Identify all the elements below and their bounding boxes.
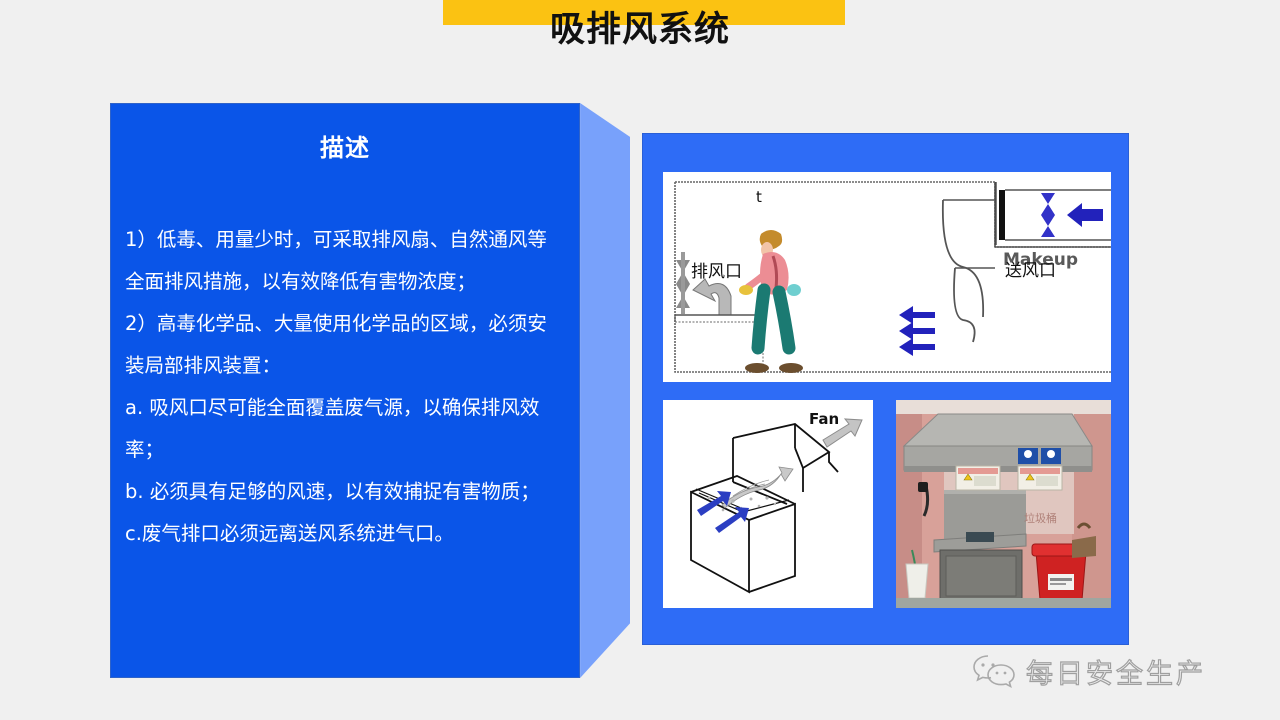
description-body: 1）低毒、用量少时，可采取排风扇、自然通风等全面排风措施，以有效降低有害物浓度；…	[125, 219, 565, 555]
description-paragraph-2: 2）高毒化学品、大量使用化学品的区域，必须安装局部排风装置：	[125, 303, 565, 387]
supply-vent-label: 送风口	[1005, 261, 1056, 281]
description-paragraph-4: b. 必须具有足够的风速，以有效捕捉有害物质；	[125, 471, 565, 513]
room-ventilation-diagram: t 排风口 Makeup 送风口	[663, 172, 1111, 382]
pointer-label: t	[756, 188, 762, 206]
description-paragraph-3: a. 吸风口尽可能全面覆盖废气源，以确保排风效率；	[125, 387, 565, 471]
local-exhaust-hood-diagram: Fan	[663, 400, 873, 608]
description-paragraph-5: c.废气排口必须远离送风系统进气口。	[125, 513, 565, 555]
exhaust-vent-label: 排风口	[691, 262, 742, 282]
watermark: 每日安全生产	[972, 648, 1272, 694]
fan-label: Fan	[809, 410, 839, 428]
wechat-icon	[972, 652, 1018, 690]
description-panel: 描述 1）低毒、用量少时，可采取排风扇、自然通风等全面排风措施，以有效降低有害物…	[110, 103, 580, 678]
page-title: 吸排风系统	[0, 6, 1280, 54]
description-heading: 描述	[111, 128, 579, 163]
description-paragraph-1: 1）低毒、用量少时，可采取排风扇、自然通风等全面排风措施，以有效降低有害物浓度；	[125, 219, 565, 303]
photo-wall-caption: 垃圾桶	[1024, 511, 1057, 525]
lab-fume-hood-photo: 垃圾桶	[896, 400, 1111, 608]
intake-arrows-icon	[899, 306, 935, 356]
figure-panel: t 排风口 Makeup 送风口	[642, 133, 1129, 645]
exhaust-fan-icon	[676, 252, 690, 314]
description-panel-container: 描述 1）低毒、用量少时，可采取排风扇、自然通风等全面排风措施，以有效降低有害物…	[110, 103, 630, 678]
watermark-account-name: 每日安全生产	[1026, 652, 1206, 691]
